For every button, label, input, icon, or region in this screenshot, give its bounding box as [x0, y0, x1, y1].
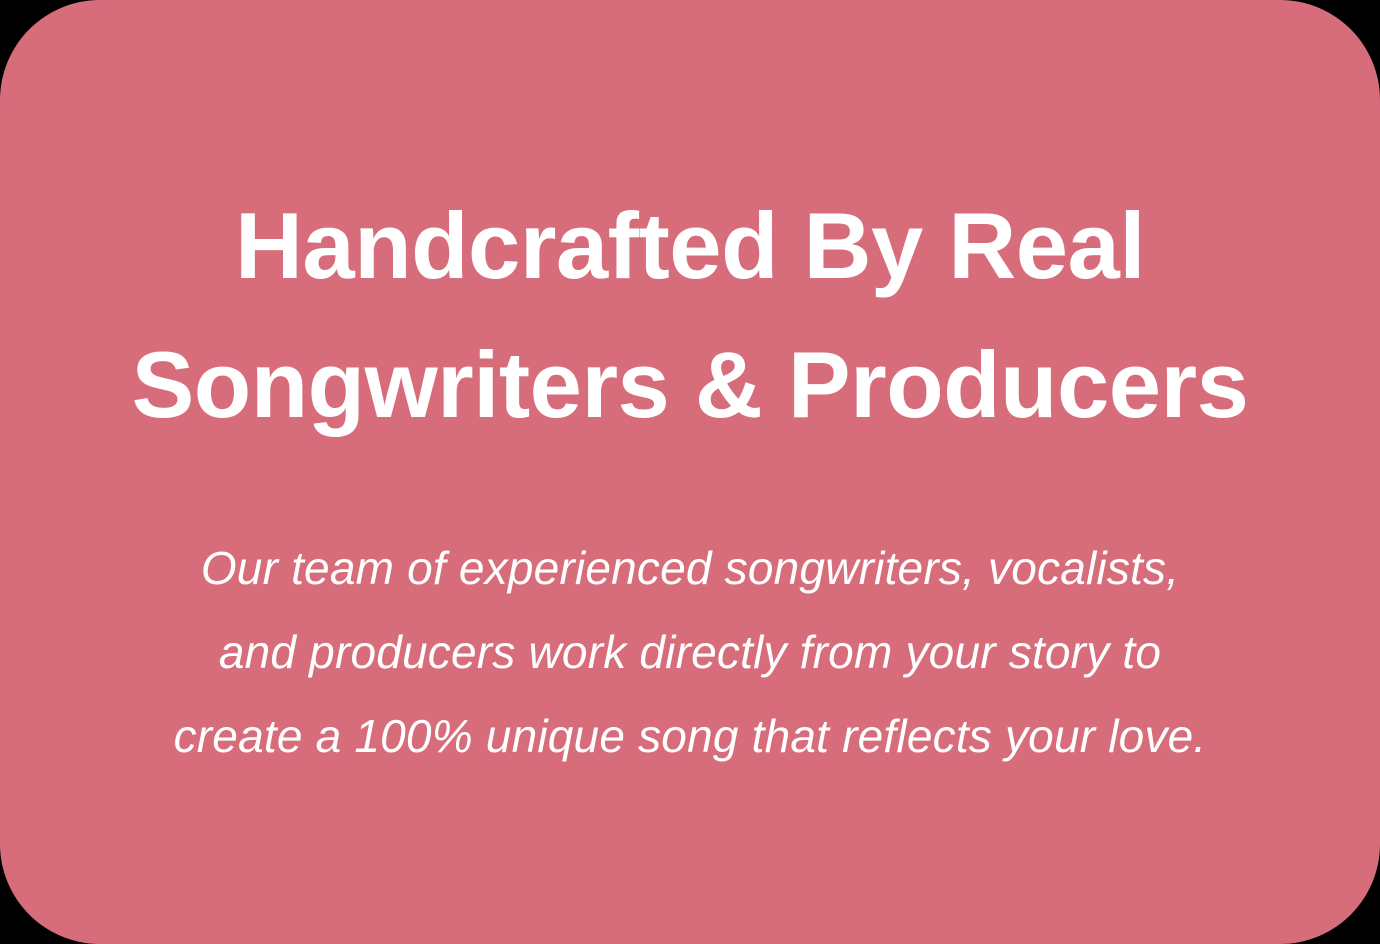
card-body-text: Our team of experienced songwriters, voc… [60, 454, 1320, 778]
card-heading-line-1: Handcrafted By Real [60, 176, 1320, 315]
card-heading-line-2: Songwriters & Producers [60, 315, 1320, 454]
card-body-line-3: create a 100% unique song that reflects … [60, 694, 1320, 778]
card-heading: Handcrafted By Real Songwriters & Produc… [60, 0, 1320, 454]
card-body-line-1: Our team of experienced songwriters, voc… [60, 526, 1320, 610]
feature-card: Handcrafted By Real Songwriters & Produc… [0, 0, 1380, 944]
card-body-line-2: and producers work directly from your st… [60, 610, 1320, 694]
card-content: Handcrafted By Real Songwriters & Produc… [0, 0, 1380, 778]
